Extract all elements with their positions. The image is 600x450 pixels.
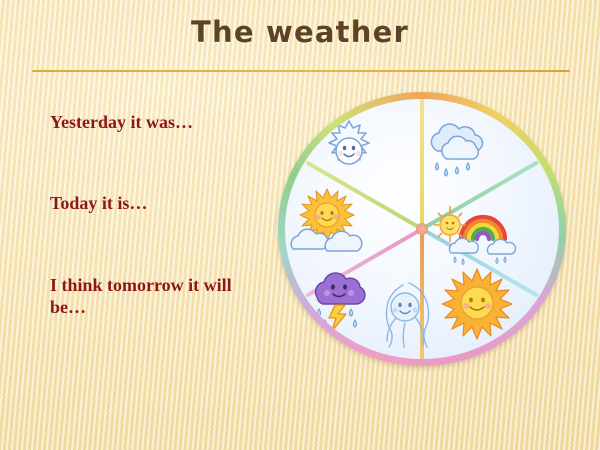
- snowflake-icon: [307, 115, 391, 187]
- prompt-tomorrow: I think tomorrow it will be…: [50, 275, 265, 319]
- page-title: The weather: [0, 18, 600, 47]
- wheel-segment-rainbow[interactable]: [437, 191, 521, 263]
- rain-cloud-icon: [413, 113, 497, 185]
- prompt-today: Today it is…: [50, 193, 265, 215]
- sun-icon: [435, 267, 519, 339]
- prompt-list: Yesterday it was… Today it is… I think t…: [50, 112, 265, 319]
- wheel-face: [285, 99, 559, 359]
- wheel-segment-thunder[interactable]: [295, 263, 379, 335]
- thundercloud-icon: [295, 263, 379, 335]
- wheel-segment-rain-cloud[interactable]: [413, 113, 497, 185]
- wheel-segment-snowflake[interactable]: [307, 115, 391, 187]
- sun-behind-cloud-icon: [287, 187, 371, 259]
- wheel-hub: [416, 223, 428, 235]
- title-divider: [32, 70, 570, 72]
- weather-wheel[interactable]: [278, 92, 566, 366]
- wheel-segment-partly-cloudy[interactable]: [287, 187, 371, 259]
- slide: The weather Yesterday it was… Today it i…: [0, 0, 600, 450]
- wheel-segment-sunny[interactable]: [435, 267, 519, 339]
- rainbow-icon: [437, 191, 521, 263]
- title-block: The weather: [0, 18, 600, 47]
- prompt-yesterday: Yesterday it was…: [50, 112, 265, 134]
